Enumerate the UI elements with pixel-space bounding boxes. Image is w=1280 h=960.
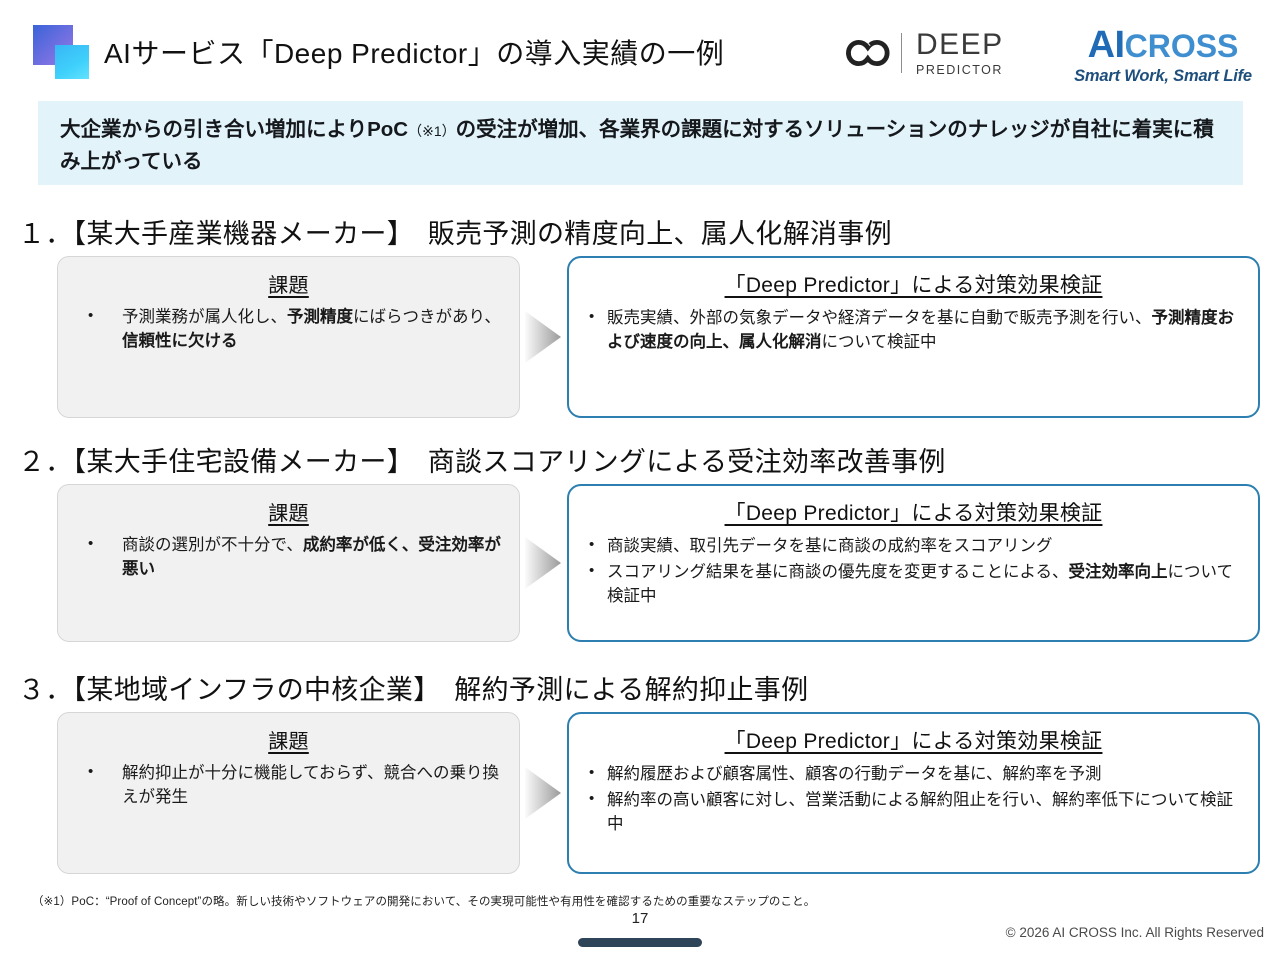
ai-cross-brand-primary: AI [1088, 24, 1125, 66]
solution-bullet-list: 解約履歴および顧客属性、顧客の行動データを基に、解約率を予測解約率の高い顧客に対… [585, 763, 1242, 837]
arrow-right-icon [525, 537, 561, 589]
solution-box-title: 「Deep Predictor」による対策効果検証 [585, 725, 1242, 755]
solution-box: 「Deep Predictor」による対策効果検証 商談実績、取引先データを基に… [567, 484, 1260, 642]
bullet-emphasis: 予測精度 [287, 308, 353, 326]
solution-box-title: 「Deep Predictor」による対策効果検証 [585, 269, 1242, 299]
issue-bullet-list: 商談の選別が不十分で、成約率が低く、受注効率が悪い [74, 534, 503, 582]
page-title: AIサービス「Deep Predictor」の導入実績の一例 [104, 32, 724, 72]
issue-box-title: 課題 [74, 725, 503, 754]
list-item: 販売実績、外部の気象データや経済データを基に自動で販売予測を行い、予測精度および… [585, 307, 1242, 355]
ai-cross-tagline: Smart Work, Smart Life [1063, 67, 1263, 86]
solution-box-title: 「Deep Predictor」による対策効果検証 [585, 497, 1242, 527]
summary-text-before: 大企業からの引き合い増加によりPoC [60, 118, 408, 141]
logo-divider [901, 33, 902, 73]
list-item: 解約履歴および顧客属性、顧客の行動データを基に、解約率を予測 [585, 763, 1242, 787]
case-heading: ２．【某大手住宅設備メーカー】 商談スコアリングによる受注効率改善事例 [18, 440, 946, 479]
case-heading: ３．【某地域インフラの中核企業】 解約予測による解約抑止事例 [18, 668, 808, 707]
page-progress-bar [578, 938, 702, 947]
bullet-emphasis: 信頼性に欠ける [122, 332, 238, 350]
solution-bullet-list: 販売実績、外部の気象データや経済データを基に自動で販売予測を行い、予測精度および… [585, 307, 1242, 355]
list-item: 解約抑止が十分に機能しておらず、競合への乗り換えが発生 [74, 762, 503, 810]
bullet-text: スコアリング結果を基に商談の優先度を変更することによる、 [607, 563, 1069, 581]
ai-cross-brand-secondary: CROSS [1125, 28, 1239, 64]
issue-box: 課題 商談の選別が不十分で、成約率が低く、受注効率が悪い [57, 484, 520, 642]
arrow-right-icon [525, 767, 561, 819]
footnote-text: （※1）PoC：“Proof of Concept”の略。新しい技術やソフトウェ… [32, 893, 815, 909]
ai-cross-wordmark: AICROSS [1063, 26, 1263, 64]
slide-header: AIサービス「Deep Predictor」の導入実績の一例 DEEP PRED… [0, 0, 1280, 96]
list-item: 商談実績、取引先データを基に商談の成約率をスコアリング [585, 535, 1242, 559]
issue-box: 課題 解約抑止が十分に機能しておらず、競合への乗り換えが発生 [57, 712, 520, 874]
ai-cross-square-logo [33, 25, 95, 80]
summary-banner-text: 大企業からの引き合い増加によりPoC（※1）の受注が増加、各業界の課題に対するソ… [60, 114, 1223, 178]
list-item: 商談の選別が不十分で、成約率が低く、受注効率が悪い [74, 534, 503, 582]
bullet-text: について検証中 [822, 333, 937, 351]
bullet-text: 販売実績、外部の気象データや経済データを基に自動で販売予測を行い、 [607, 309, 1152, 327]
bullet-text: 解約抑止が十分に機能しておらず、競合への乗り換えが発生 [122, 764, 499, 806]
solution-box: 「Deep Predictor」による対策効果検証 販売実績、外部の気象データや… [567, 256, 1260, 418]
bullet-text: 解約率の高い顧客に対し、営業活動による解約阻止を行い、解約率低下について検証中 [607, 791, 1233, 833]
copyright-text: © 2026 AI CROSS Inc. All Rights Reserved [1006, 925, 1264, 940]
case-heading: １．【某大手産業機器メーカー】 販売予測の精度向上、属人化解消事例 [18, 212, 892, 251]
deep-predictor-logo: DEEP PREDICTOR [833, 28, 1004, 78]
bullet-text: 解約履歴および顧客属性、顧客の行動データを基に、解約率を予測 [607, 765, 1102, 783]
bullet-text: 商談の選別が不十分で、 [122, 536, 303, 554]
bullet-emphasis: 受注効率向上 [1069, 563, 1168, 581]
deep-predictor-word-bottom: PREDICTOR [916, 64, 1004, 77]
list-item: スコアリング結果を基に商談の優先度を変更することによる、受注効率向上について検証… [585, 561, 1242, 609]
issue-box-title: 課題 [74, 497, 503, 526]
ai-cross-logo: AICROSS Smart Work, Smart Life [1063, 26, 1263, 86]
issue-bullet-list: 解約抑止が十分に機能しておらず、競合への乗り換えが発生 [74, 762, 503, 810]
bullet-text: 商談実績、取引先データを基に商談の成約率をスコアリング [607, 537, 1053, 555]
deep-predictor-wordmark: DEEP PREDICTOR [916, 30, 1004, 77]
slide-root: AIサービス「Deep Predictor」の導入実績の一例 DEEP PRED… [0, 0, 1280, 960]
logo-square-front-icon [55, 45, 89, 79]
footnote-reference: （※1） [408, 123, 456, 139]
list-item: 予測業務が属人化し、予測精度にばらつきがあり、信頼性に欠ける [74, 306, 503, 354]
deep-predictor-word-top: DEEP [916, 30, 1004, 60]
list-item: 解約率の高い顧客に対し、営業活動による解約阻止を行い、解約率低下について検証中 [585, 789, 1242, 837]
infinity-icon [833, 33, 891, 73]
bullet-text: にばらつきがあり、 [353, 308, 501, 326]
issue-box: 課題 予測業務が属人化し、予測精度にばらつきがあり、信頼性に欠ける [57, 256, 520, 418]
issue-box-title: 課題 [74, 269, 503, 298]
issue-bullet-list: 予測業務が属人化し、予測精度にばらつきがあり、信頼性に欠ける [74, 306, 503, 354]
bullet-text: 予測業務が属人化し、 [122, 308, 287, 326]
summary-banner: 大企業からの引き合い増加によりPoC（※1）の受注が増加、各業界の課題に対するソ… [38, 101, 1243, 185]
solution-bullet-list: 商談実績、取引先データを基に商談の成約率をスコアリングスコアリング結果を基に商談… [585, 535, 1242, 609]
solution-box: 「Deep Predictor」による対策効果検証 解約履歴および顧客属性、顧客… [567, 712, 1260, 874]
arrow-right-icon [525, 311, 561, 363]
